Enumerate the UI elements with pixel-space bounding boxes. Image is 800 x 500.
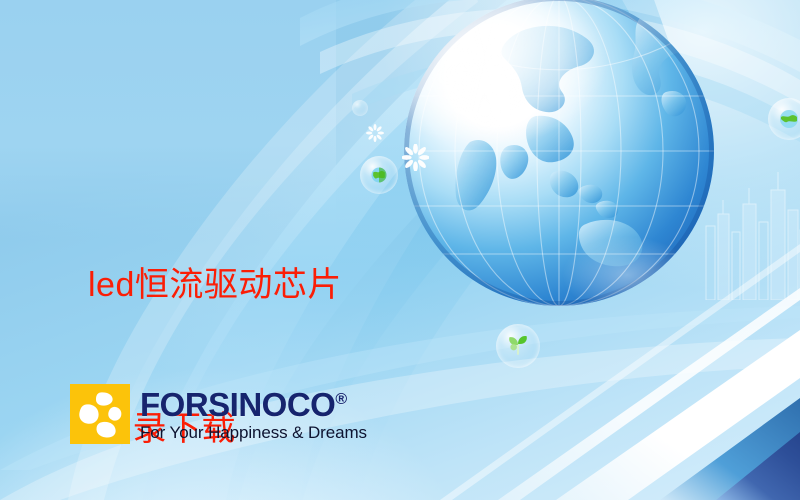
bubble-leaf-icon: [496, 324, 540, 368]
forsinoco-petal-mark-icon: [70, 384, 130, 444]
headline-line-1: led恒流驱动芯片: [88, 261, 428, 309]
globe-green-edge-icon: [768, 98, 800, 140]
promo-banner: led恒流驱动芯片 目录下载 FORSINOCO® For Your Happ: [0, 0, 800, 500]
registered-trademark-symbol: ®: [335, 391, 346, 408]
brand-logo[interactable]: FORSINOCO® For Your Happiness & Dreams: [70, 384, 367, 444]
logo-text-block: FORSINOCO® For Your Happiness & Dreams: [140, 384, 367, 441]
leaf-green-icon: [496, 324, 540, 368]
logo-wordmark: FORSINOCO®: [140, 388, 367, 421]
sparkle-flower-small: [366, 124, 384, 147]
bubble-edge-icon: [768, 98, 800, 140]
city-skyline-silhouette: [700, 170, 800, 300]
globe-sphere: [404, 0, 714, 306]
logo-tagline: For Your Happiness & Dreams: [140, 424, 367, 441]
headline-text: led恒流驱动芯片 目录下载: [88, 164, 428, 500]
earth-globe: [404, 0, 714, 306]
bubble-faint-small: [352, 100, 368, 116]
globe-landmasses: [455, 0, 708, 266]
logo-wordmark-text: FORSINOCO: [140, 386, 335, 423]
